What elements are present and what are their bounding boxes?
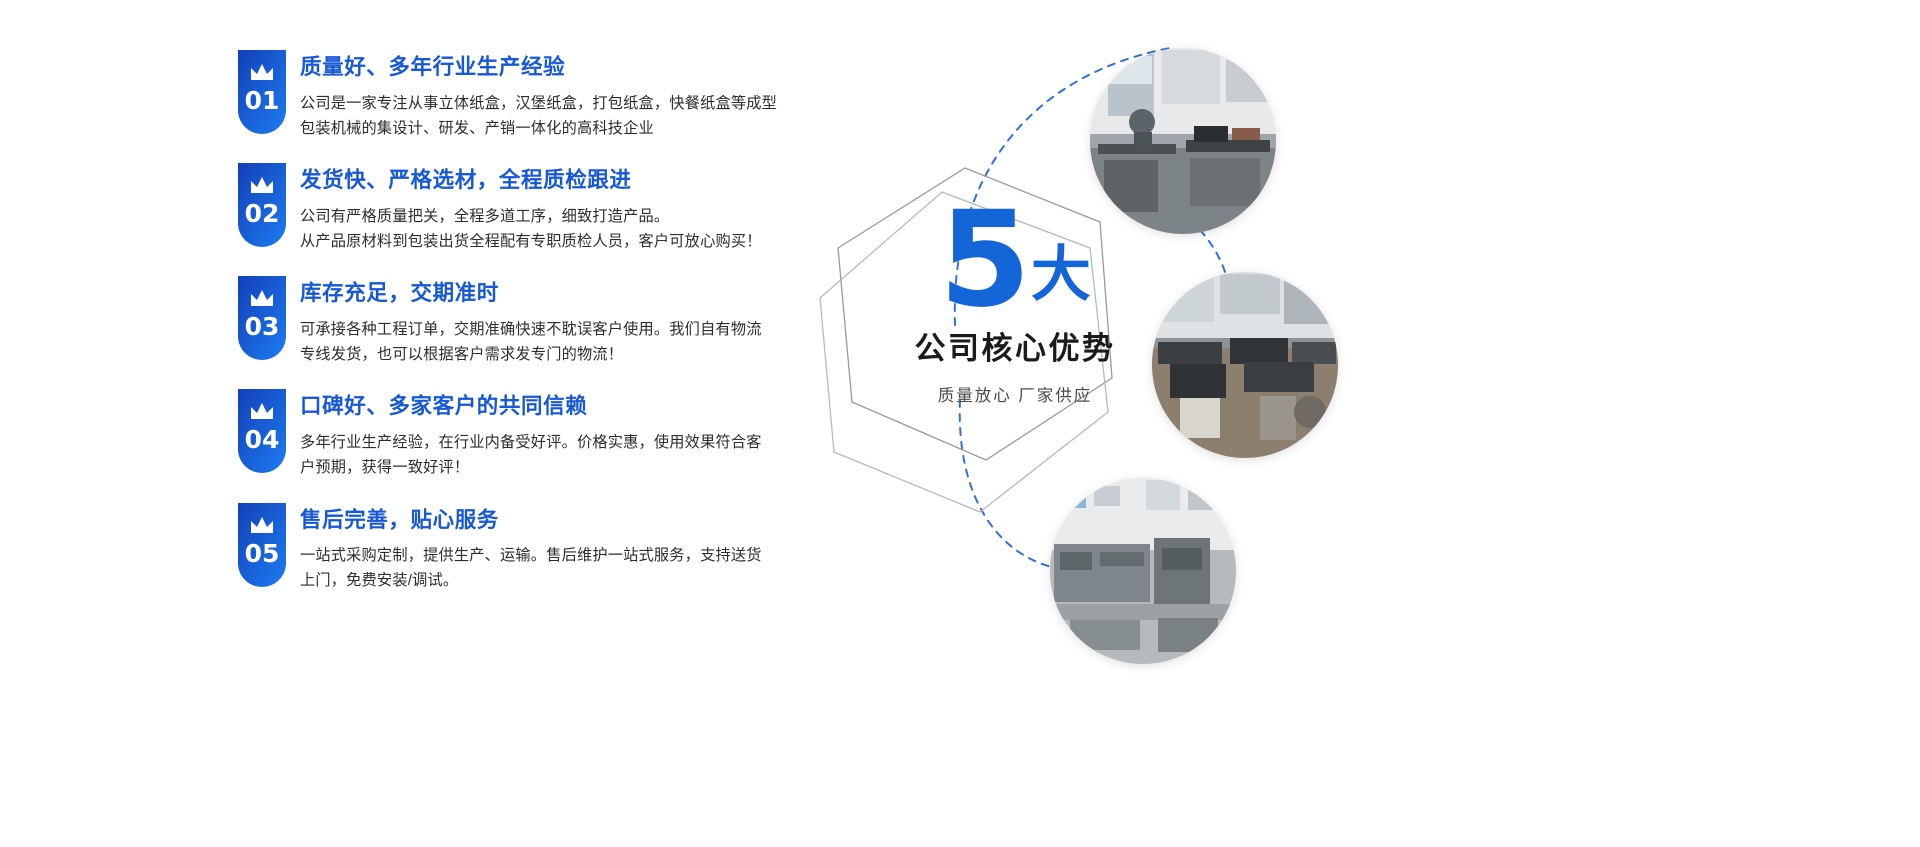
badge-04: 04	[238, 389, 286, 473]
feature-text-02: 发货快、严格选材，全程质检跟进 公司有严格质量把关，全程多道工序，细致打造产品。…	[300, 163, 762, 254]
feature-body-line: 从产品原材料到包装出货全程配有专职质检人员，客户可放心购买！	[300, 230, 762, 255]
feature-body-line: 可承接各种工程订单，交期准确快速不耽误客户使用。我们自有物流	[300, 318, 762, 343]
badge-03: 03	[238, 276, 286, 360]
badge-number: 02	[238, 201, 286, 226]
feature-body: 一站式采购定制，提供生产、运输。售后维护一站式服务，支持送货 上门，免费安装/调…	[300, 544, 762, 593]
feature-body: 多年行业生产经验，在行业内备受好评。价格实惠，使用效果符合客 户预期，获得一致好…	[300, 431, 762, 480]
feature-heading: 发货快、严格选材，全程质检跟进	[300, 167, 762, 194]
badge-01: 01	[238, 50, 286, 134]
badge-number: 04	[238, 427, 286, 452]
feature-text-03: 库存充足，交期准时 可承接各种工程订单，交期准确快速不耽误客户使用。我们自有物流…	[300, 276, 762, 367]
promo-graphic: 01 质量好、多年行业生产经验 公司是一家专注从事立体纸盒，汉堡纸盒，打包纸盒，…	[0, 0, 1920, 847]
feature-heading: 售后完善，贴心服务	[300, 507, 762, 534]
feature-heading: 库存充足，交期准时	[300, 280, 762, 307]
feature-body-line: 一站式采购定制，提供生产、运输。售后维护一站式服务，支持送货	[300, 544, 762, 569]
feature-body-line: 户预期，获得一致好评！	[300, 456, 762, 481]
badge-number: 05	[238, 541, 286, 566]
feature-heading: 质量好、多年行业生产经验	[300, 54, 777, 81]
badge-02: 02	[238, 163, 286, 247]
production-machine-photo	[1050, 478, 1236, 664]
feature-text-04: 口碑好、多家客户的共同信赖 多年行业生产经验，在行业内备受好评。价格实惠，使用效…	[300, 389, 762, 480]
feature-body-line: 上门，免费安装/调试。	[300, 569, 762, 594]
office-interior-photo	[1152, 272, 1338, 458]
office-workstation-photo	[1090, 48, 1276, 234]
badge-number: 01	[238, 88, 286, 113]
feature-body-line: 专线发货，也可以根据客户需求发专门的物流！	[300, 343, 762, 368]
feature-text-01: 质量好、多年行业生产经验 公司是一家专注从事立体纸盒，汉堡纸盒，打包纸盒，快餐纸…	[300, 50, 777, 141]
feature-body-line: 包装机械的集设计、研发、产销一体化的高科技企业	[300, 117, 777, 142]
emblem-and-photos: 5大 公司核心优势 质量放心 厂家供应	[770, 0, 1920, 847]
feature-body: 公司有严格质量把关，全程多道工序，细致打造产品。 从产品原材料到包装出货全程配有…	[300, 205, 762, 254]
feature-heading: 口碑好、多家客户的共同信赖	[300, 393, 762, 420]
feature-body: 公司是一家专注从事立体纸盒，汉堡纸盒，打包纸盒，快餐纸盒等成型 包装机械的集设计…	[300, 92, 777, 141]
feature-body-line: 公司是一家专注从事立体纸盒，汉堡纸盒，打包纸盒，快餐纸盒等成型	[300, 92, 777, 117]
feature-body-line: 多年行业生产经验，在行业内备受好评。价格实惠，使用效果符合客	[300, 431, 762, 456]
badge-05: 05	[238, 503, 286, 587]
badge-number: 03	[238, 314, 286, 339]
feature-body-line: 公司有严格质量把关，全程多道工序，细致打造产品。	[300, 205, 762, 230]
feature-text-05: 售后完善，贴心服务 一站式采购定制，提供生产、运输。售后维护一站式服务，支持送货…	[300, 503, 762, 594]
photo-cluster	[770, 0, 1920, 847]
feature-body: 可承接各种工程订单，交期准确快速不耽误客户使用。我们自有物流 专线发货，也可以根…	[300, 318, 762, 367]
